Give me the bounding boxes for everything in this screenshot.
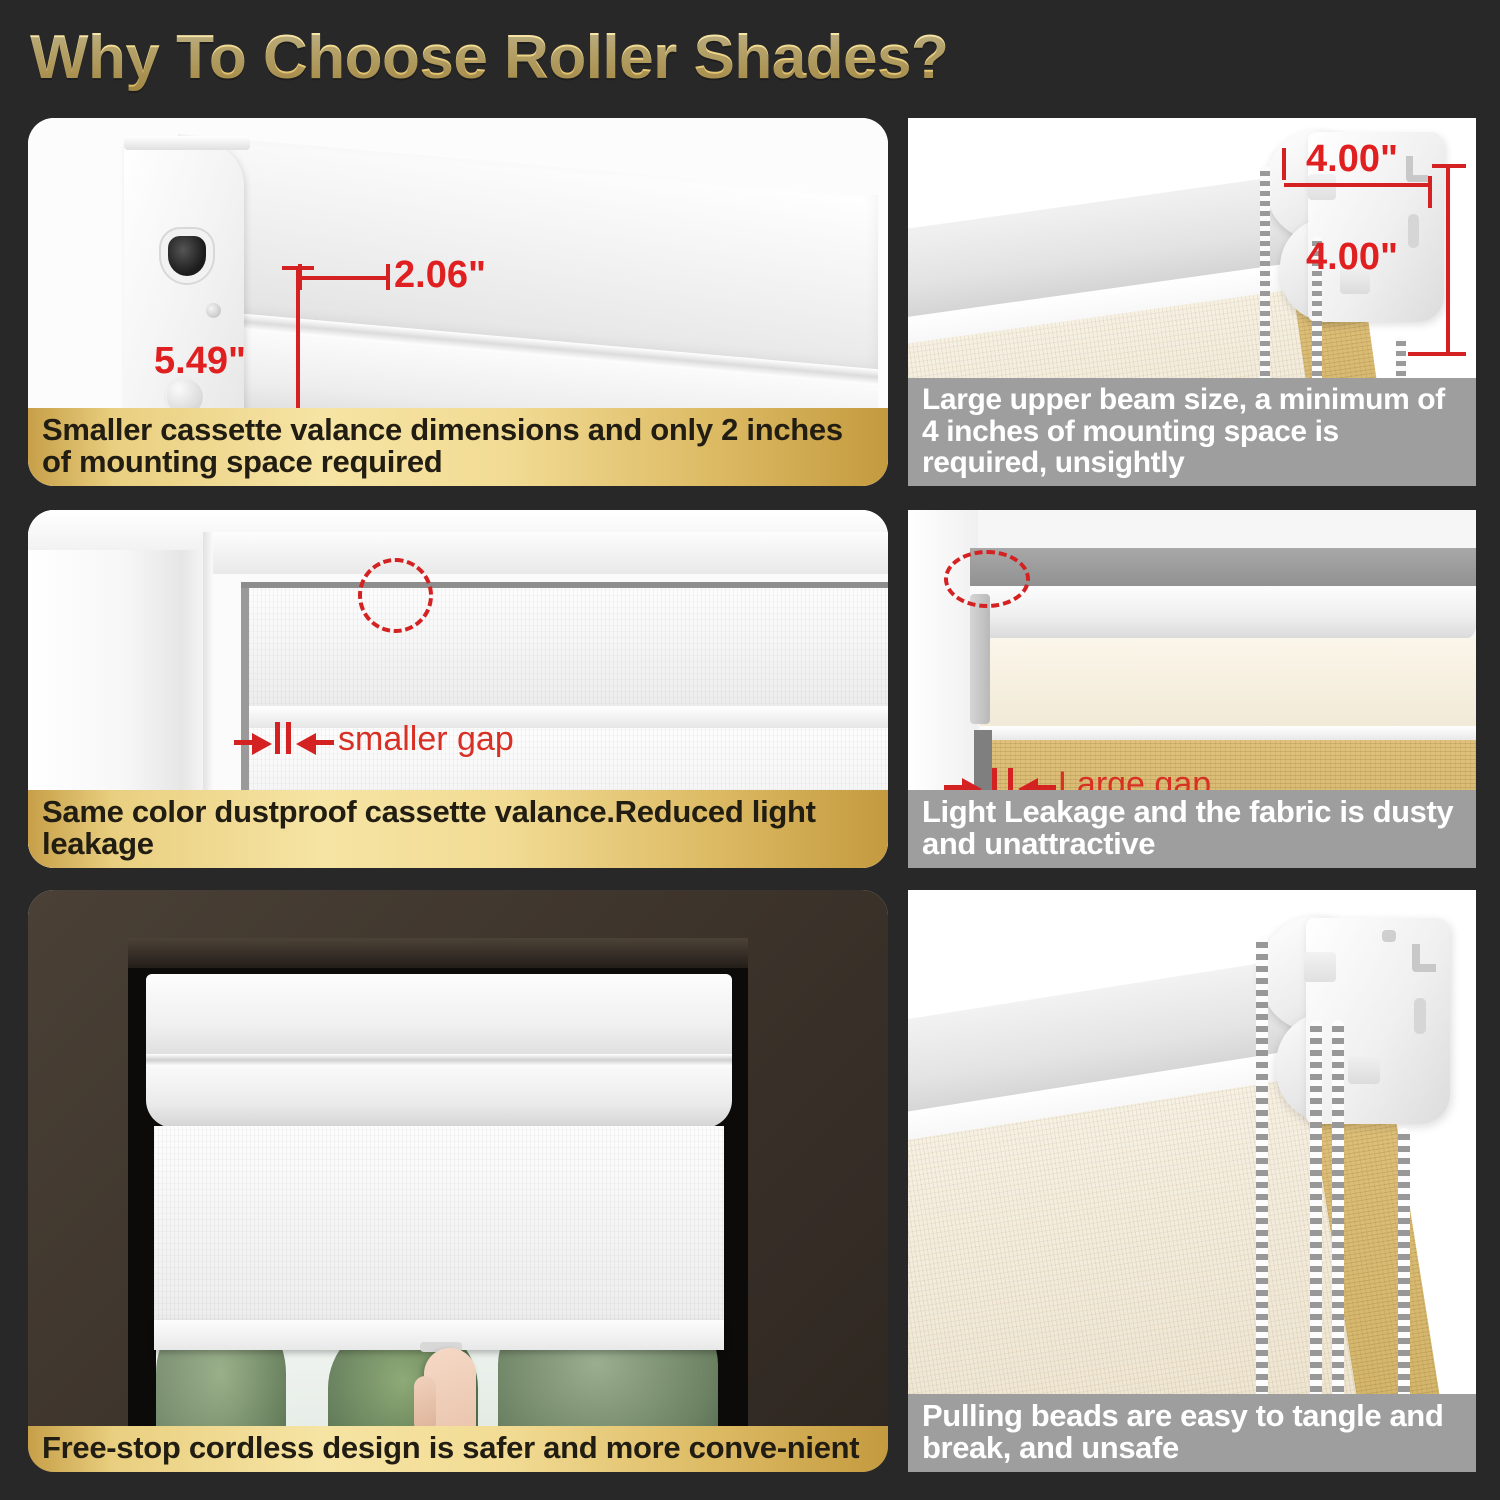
panel-5-caption-text: Free-stop cordless design is safer and m… <box>42 1432 874 1464</box>
beam-height-line <box>1446 166 1450 356</box>
smaller-gap-label: smaller gap <box>338 720 514 759</box>
panel-5-photo <box>28 890 888 1472</box>
beam-width-tick-left <box>1282 148 1286 180</box>
panel-4-bracket <box>970 594 990 724</box>
gap-tick-right <box>286 722 291 754</box>
width-dimension-tick-right <box>386 264 390 290</box>
end-cap-screw-upper <box>206 303 221 318</box>
panel-1-caption-text: Smaller cassette valance dimensions and … <box>42 414 874 478</box>
panel-1-caption: Smaller cassette valance dimensions and … <box>28 408 888 486</box>
beam-width-label: 4.00" <box>1306 138 1398 181</box>
beam-height-label: 4.00" <box>1306 236 1398 279</box>
beam-width-line <box>1284 183 1432 187</box>
panel-5-valance-roller <box>146 1066 732 1128</box>
panel-6-emboss-lower <box>1348 1056 1380 1084</box>
panel-2-caption: Large upper beam size, a minimum of 4 in… <box>908 378 1476 486</box>
panel-pulling-beads: Pulling beads are easy to tangle and bre… <box>908 890 1476 1472</box>
bracket-slot-mid <box>1408 214 1419 248</box>
panel-6-bracket-slot-mid <box>1414 998 1426 1034</box>
panel-3-caption-text: Same color dustproof cassette valance.Re… <box>42 796 874 860</box>
fabric-edge <box>980 726 1476 740</box>
panel-smaller-cassette: 5.49" 2.06" Smaller cassette valance dim… <box>28 118 888 486</box>
panel-5-shade-fabric <box>154 1126 724 1328</box>
width-dimension-line <box>300 276 390 280</box>
highlight-circle-icon <box>358 558 433 633</box>
panel-cordless-design: Free-stop cordless design is safer and m… <box>28 890 888 1472</box>
page-title: Why To Choose Roller Shades? <box>30 22 948 93</box>
panel-4-caption: Light Leakage and the fabric is dusty an… <box>908 790 1476 868</box>
panel-6-photo <box>908 890 1476 1472</box>
panel-6-caption-text: Pulling beads are easy to tangle and bre… <box>922 1400 1462 1464</box>
gap-arrow-left-icon <box>296 733 316 755</box>
panel-6-emboss-upper <box>1304 952 1336 982</box>
panel-3-caption: Same color dustproof cassette valance.Re… <box>28 790 888 868</box>
infographic-root: Why To Choose Roller Shades? <box>0 0 1500 1500</box>
panel-large-beam: 4.00" 4.00" Large upper beam size, a min… <box>908 118 1476 486</box>
panel-6-caption: Pulling beads are easy to tangle and bre… <box>908 1394 1476 1472</box>
panel-4-highlight-circle-icon <box>944 550 1030 608</box>
gap-arrow-right-icon <box>252 733 272 755</box>
height-dimension-label: 5.49" <box>154 340 246 383</box>
panel-4-roller-tube <box>970 586 1476 640</box>
panel-5-caption: Free-stop cordless design is safer and m… <box>28 1426 888 1472</box>
window-frame-bevel <box>203 532 888 574</box>
gap-arrow-left-stem <box>316 740 334 745</box>
panel-6-bead-chain-1 <box>1256 936 1268 1472</box>
beam-width-tick-right <box>1428 176 1432 208</box>
panel-dustproof-valance: smaller gap Same color dustproof cassett… <box>28 510 888 868</box>
width-dimension-tick-left <box>298 264 302 290</box>
cassette-valance-face <box>249 588 888 710</box>
dark-recess <box>970 548 1476 590</box>
beam-height-tick-top <box>1432 164 1466 168</box>
width-dimension-label: 2.06" <box>394 254 486 297</box>
panel-6-bracket-slot-top <box>1412 944 1436 972</box>
bracket-slot-top <box>1406 156 1428 182</box>
beam-height-tick-bottom <box>1408 352 1466 356</box>
gap-arrow-right-stem <box>234 740 254 745</box>
panel-2-caption-text: Large upper beam size, a minimum of 4 in… <box>922 384 1462 478</box>
panel-4-caption-text: Light Leakage and the fabric is dusty an… <box>922 796 1462 860</box>
gap-tick-left <box>275 722 280 754</box>
end-cap-lip <box>124 136 250 150</box>
panel-5-valance-groove <box>146 1054 732 1066</box>
cream-fabric-band <box>980 638 1476 730</box>
panel-light-leakage: Large gap Light Leakage and the fabric i… <box>908 510 1476 868</box>
end-cap-slot <box>168 236 206 276</box>
recess-top-shadow <box>128 938 748 968</box>
panel-5-valance-top <box>146 974 732 1058</box>
panel-6-bracket-notch <box>1382 930 1396 942</box>
